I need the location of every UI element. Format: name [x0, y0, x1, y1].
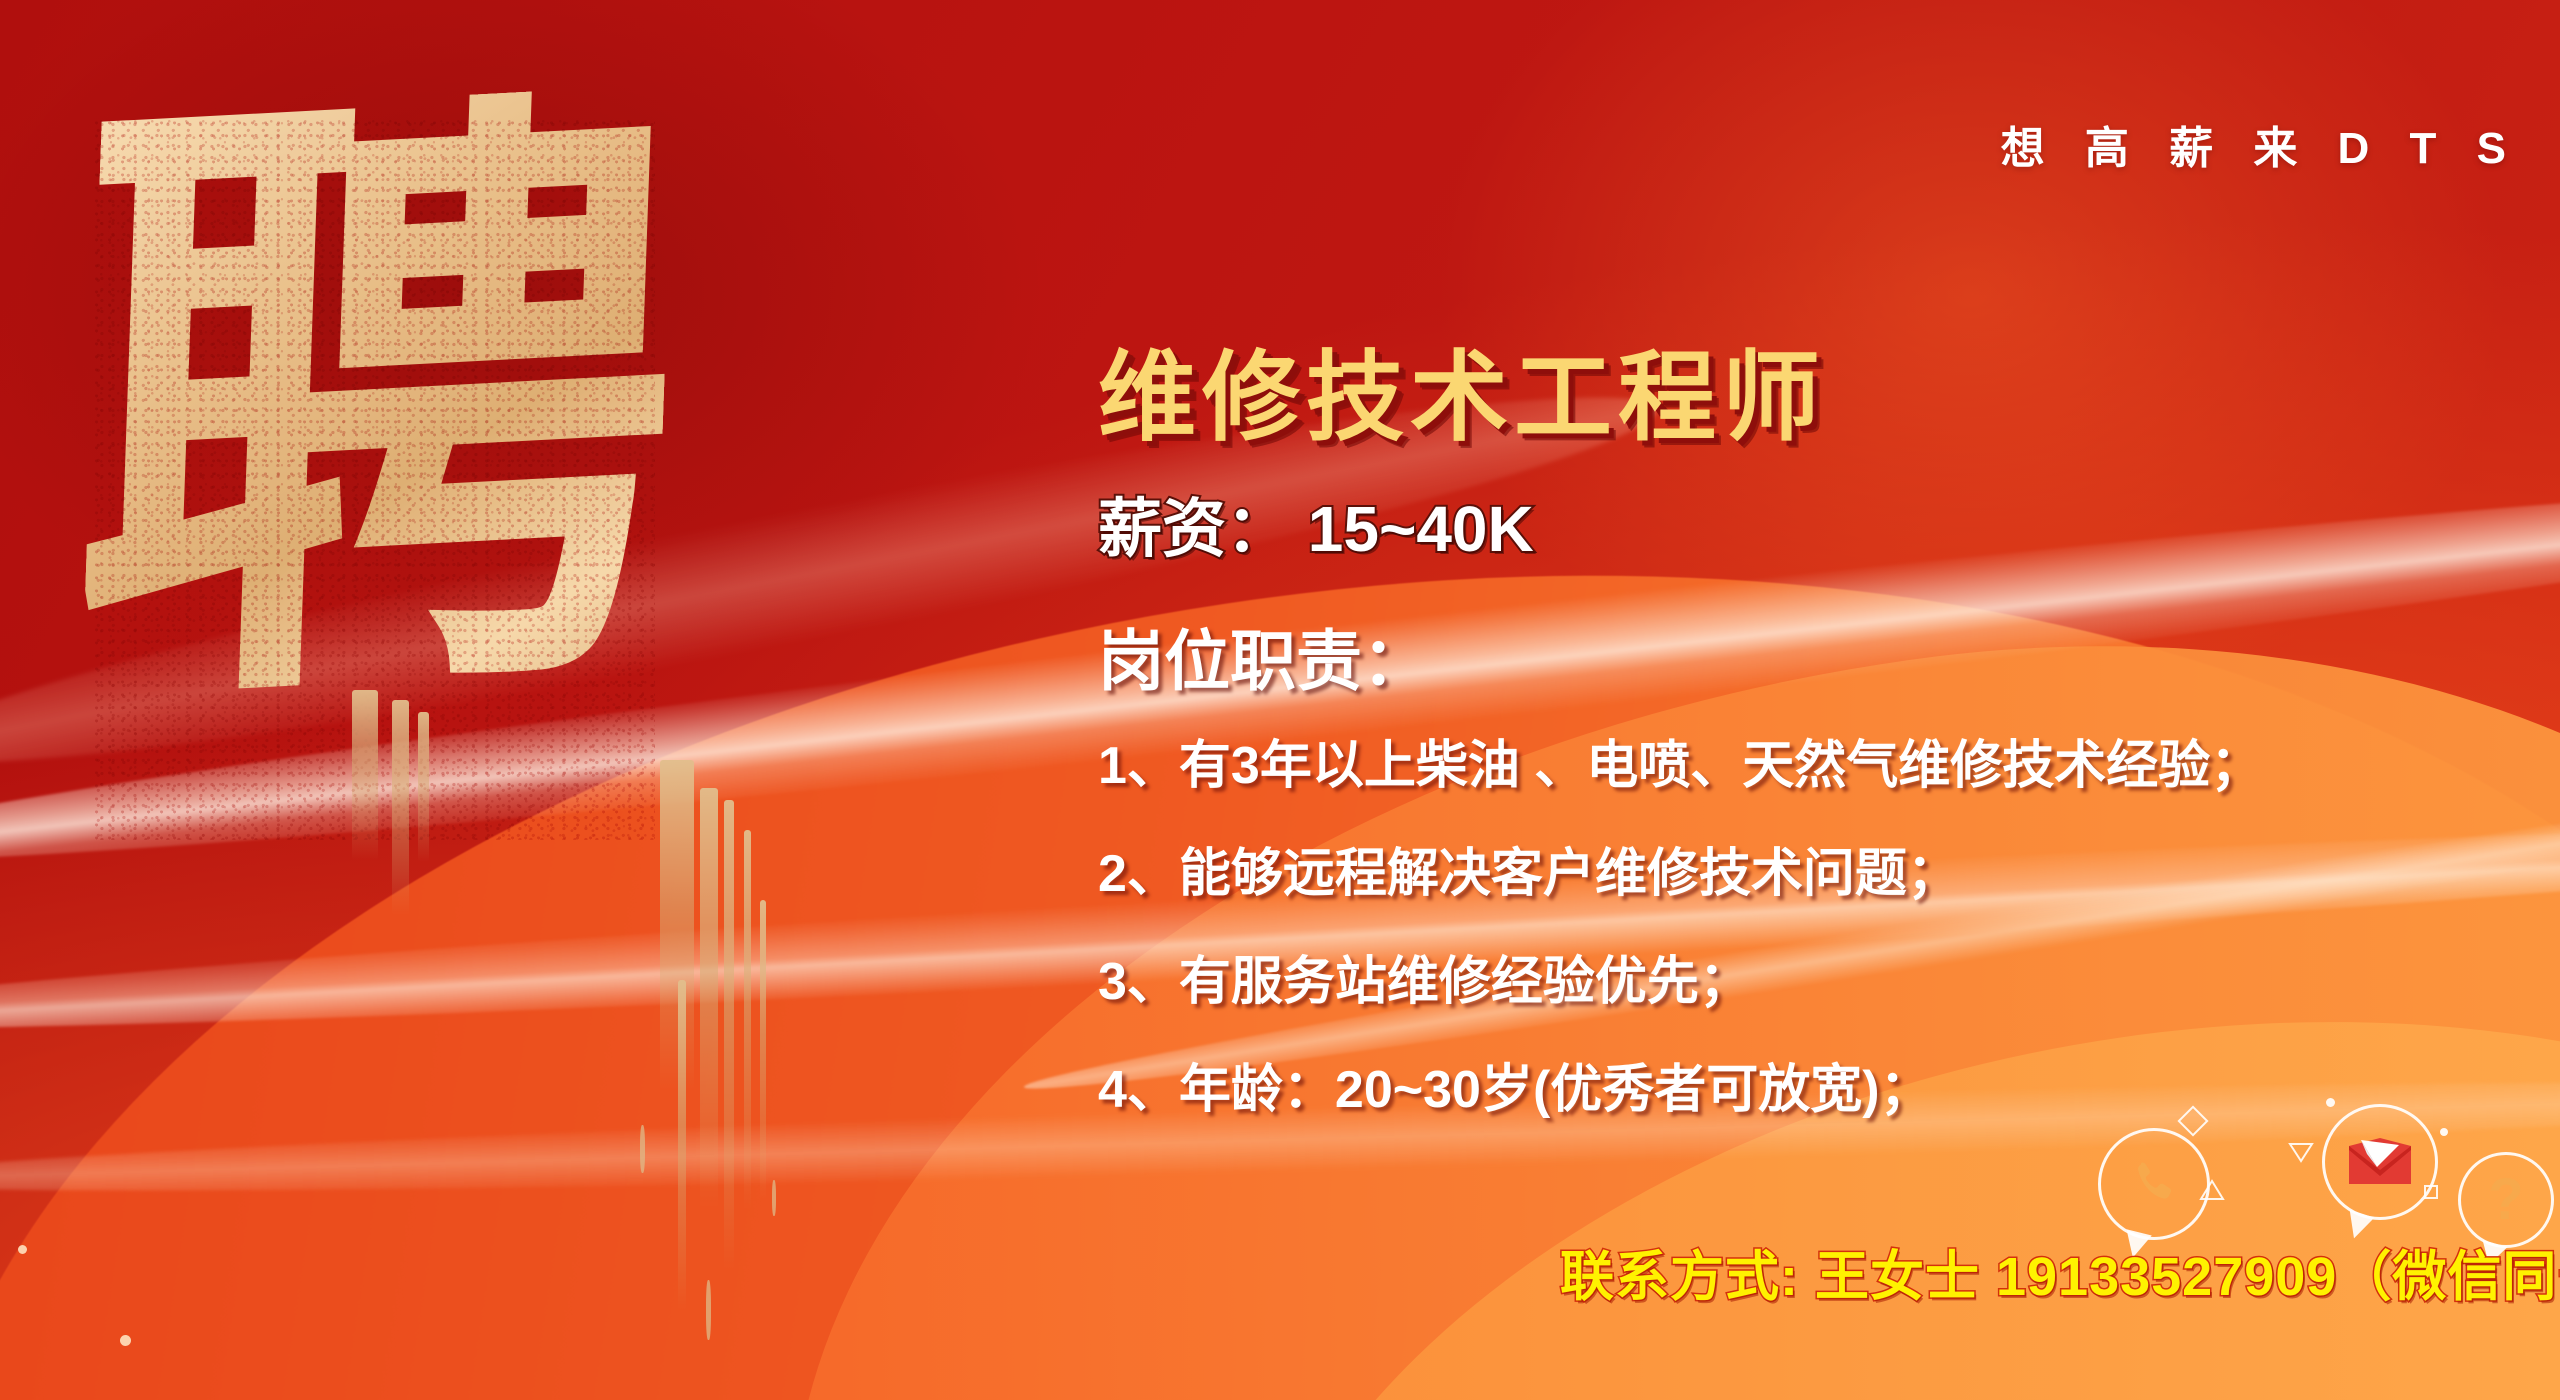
- triangle-icon: [2199, 1178, 2225, 1202]
- duties-heading: 岗位职责：: [1098, 608, 1428, 704]
- brush-splatter: [640, 1125, 645, 1173]
- brush-splatter: [706, 1280, 711, 1340]
- mail-icon: [2347, 1136, 2413, 1188]
- duties-list: 1、有3年以上柴油 、电喷、天然气维修技术经验； 2、能够远程解决客户维修技术问…: [1098, 740, 2538, 1172]
- brush-drip: [760, 900, 766, 1200]
- brush-drip: [724, 800, 734, 1270]
- brush-drip: [392, 700, 409, 915]
- mail-bubble-icon: [2322, 1104, 2438, 1220]
- brush-splatter: [772, 1180, 776, 1216]
- duty-item: 4、年龄：20~30岁(优秀者可放宽)；: [1098, 1064, 2538, 1116]
- square-outline-shape: [2424, 1185, 2438, 1199]
- triangle-outline-shape: [2199, 1178, 2223, 1198]
- salary-line: 薪资： 15~40K: [1098, 478, 1534, 570]
- tagline: 想 高 薪 来 D T S: [2001, 112, 2520, 176]
- question-mark-glyph: ?: [2488, 1171, 2523, 1229]
- sparkle-dot: [18, 1245, 27, 1254]
- brush-drip: [352, 690, 378, 860]
- duty-item: 3、有服务站维修经验优先；: [1098, 956, 2538, 1008]
- brush-drip: [678, 980, 686, 1310]
- brush-drip: [660, 760, 694, 1090]
- sparkle-dot: [120, 1335, 131, 1346]
- brush-drip: [418, 712, 429, 862]
- deco-dot: [2440, 1128, 2448, 1136]
- brush-drip: [744, 830, 751, 1210]
- duty-item: 2、能够远程解决客户维修技术问题；: [1098, 848, 2538, 900]
- contact-line: 联系方式: 王女士 19133527909（微信同号）: [1560, 1232, 2560, 1311]
- triangle-outline-shape: [2288, 1140, 2314, 1164]
- duty-item: 1、有3年以上柴油 、电喷、天然气维修技术经验；: [1098, 740, 2538, 792]
- triangle-icon: [2288, 1140, 2314, 1164]
- phone-bubble-icon: [2098, 1128, 2210, 1240]
- deco-dot: [2326, 1098, 2335, 1107]
- recruitment-poster: 聘 想 高 薪 来 D T S 维修技术工程师 薪资： 15~40K 岗位职责：…: [0, 0, 2560, 1400]
- brush-drip: [700, 788, 718, 1208]
- phone-icon: [2126, 1156, 2182, 1212]
- job-title: 维修技术工程师: [1098, 318, 1826, 460]
